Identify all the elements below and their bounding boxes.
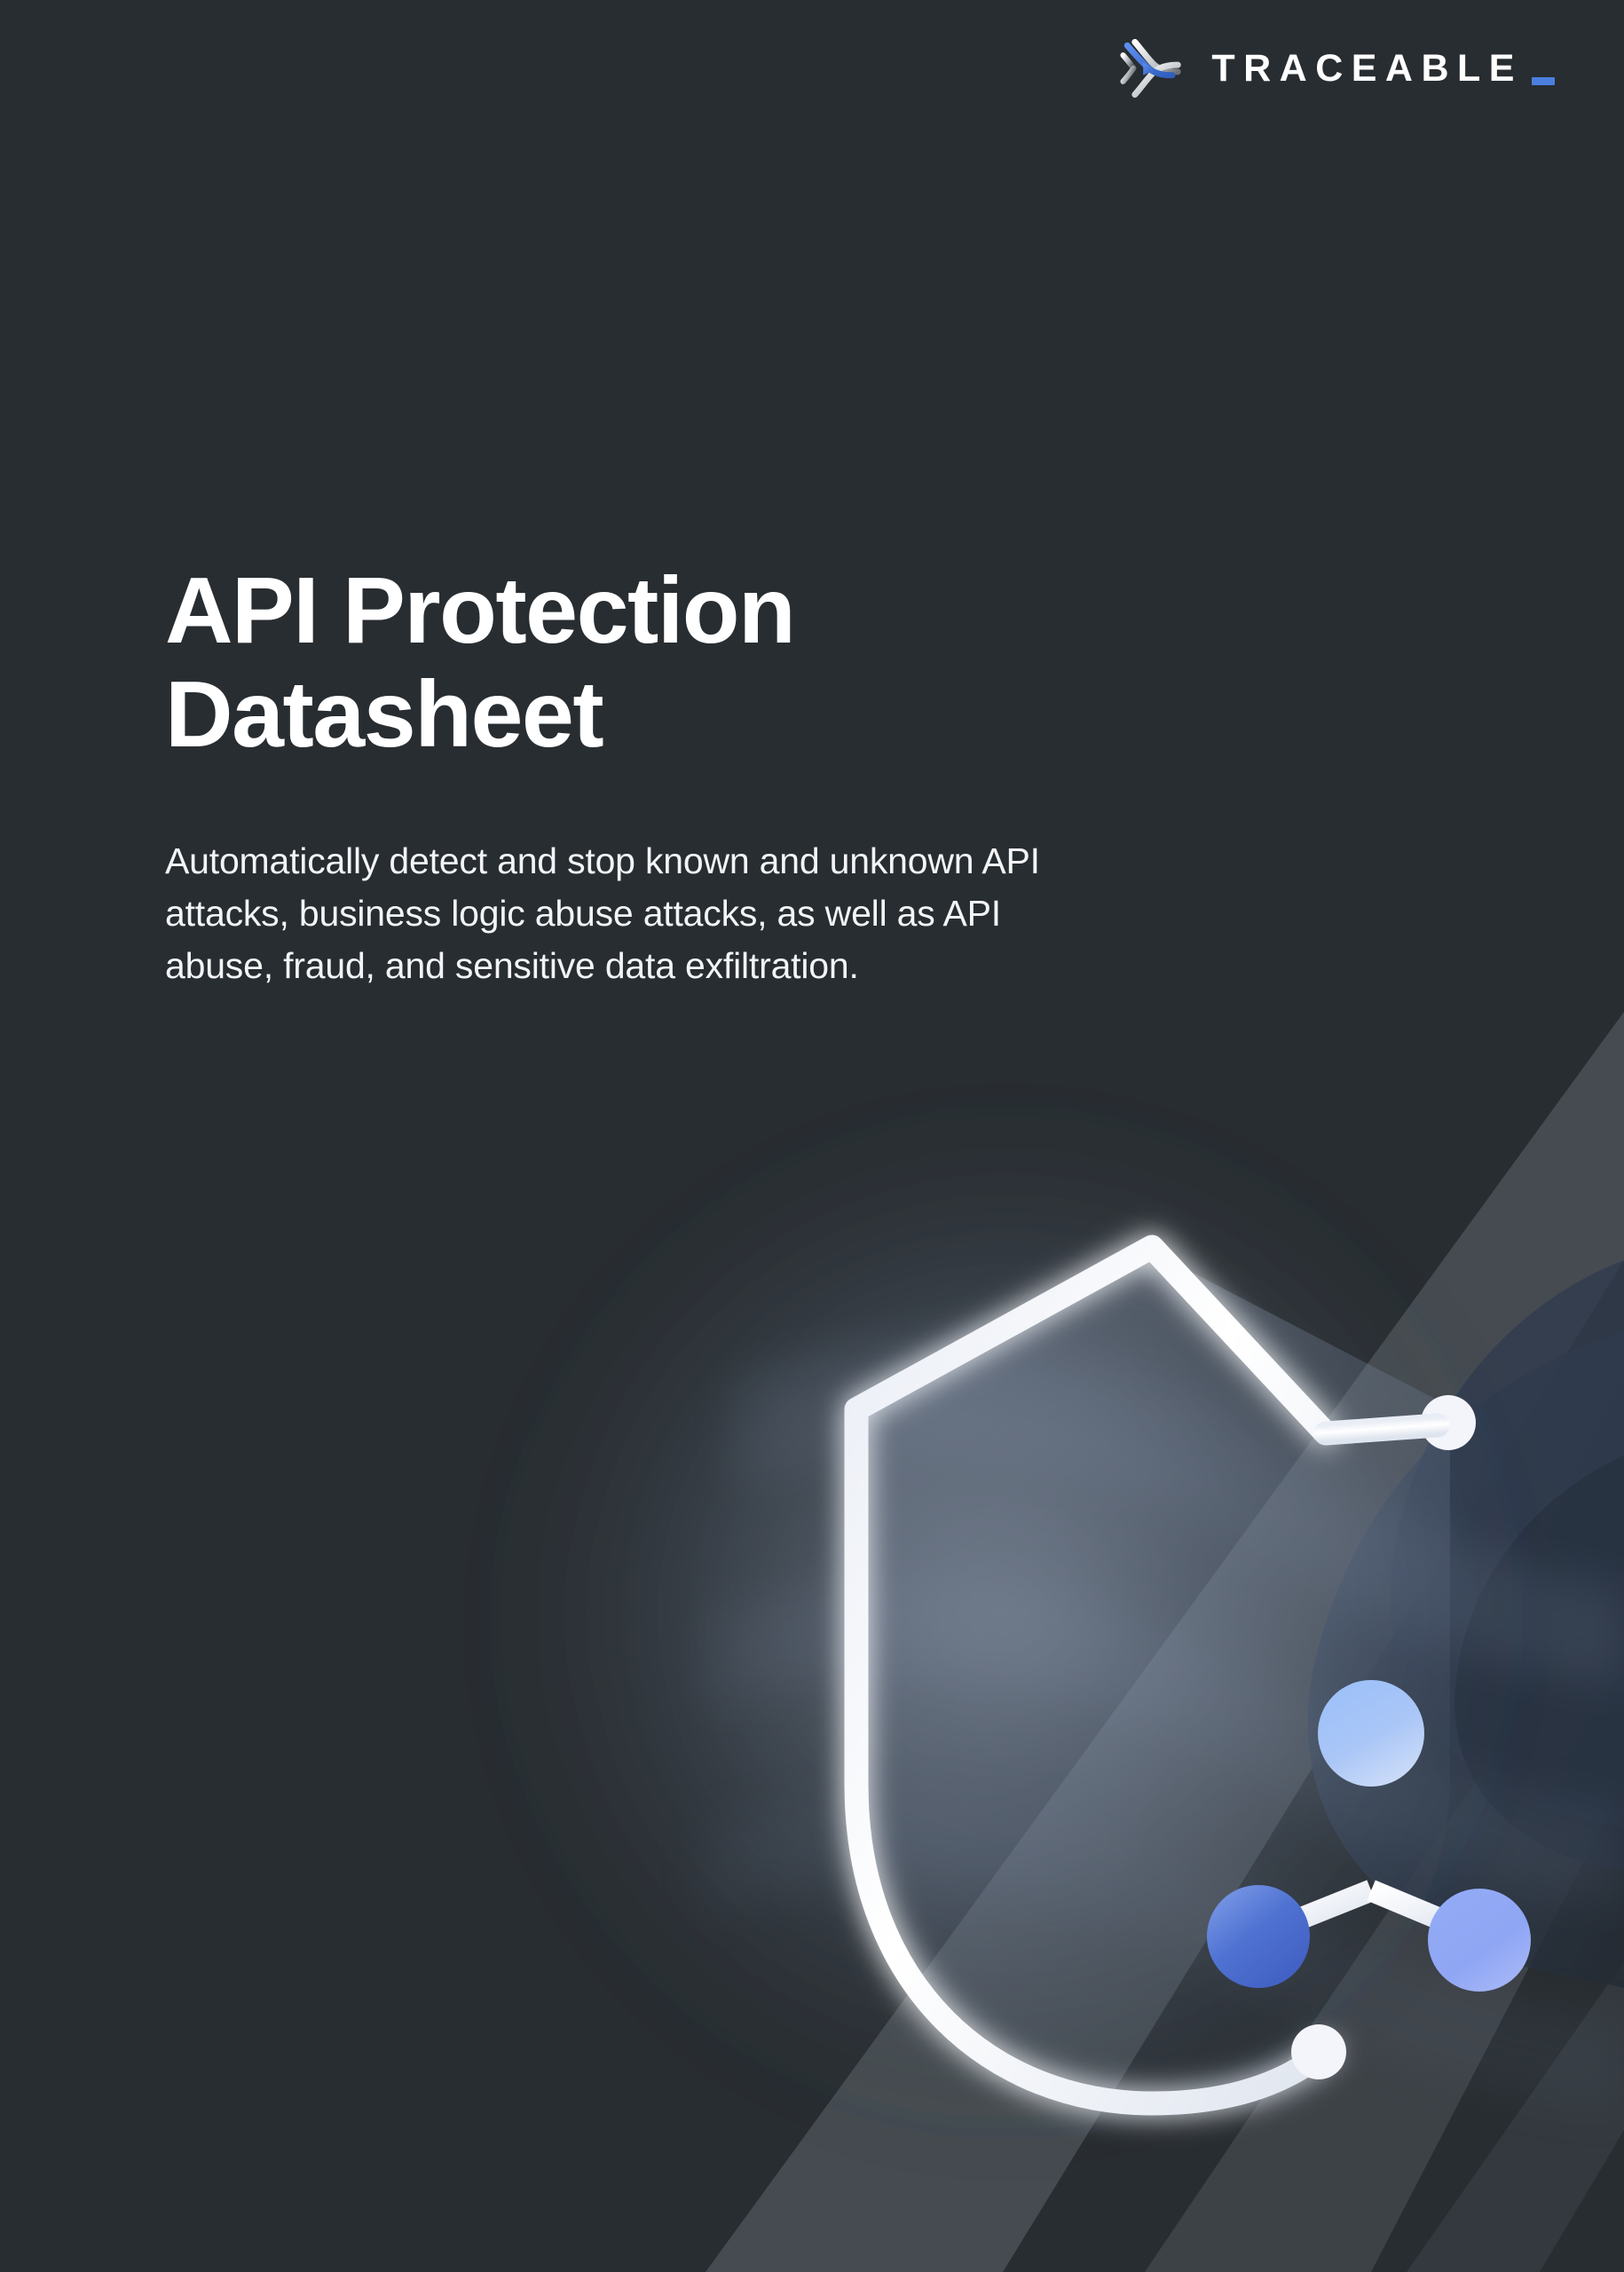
molecule-node-top	[1318, 1680, 1424, 1787]
molecule-bond-right	[1371, 1890, 1473, 1933]
brand-underscore-mark	[1532, 77, 1555, 85]
molecule-node-right	[1428, 1889, 1531, 1992]
shield-terminal-top	[1421, 1395, 1476, 1450]
brand-wordmark: TRACEABLE	[1211, 50, 1555, 88]
shield-interior	[854, 1251, 1450, 2103]
traceable-logo-mark	[1116, 34, 1185, 103]
brand-name-text: TRACEABLE	[1211, 50, 1523, 88]
brand-header: TRACEABLE	[1116, 34, 1555, 103]
background-artwork	[0, 0, 1624, 2272]
datasheet-cover-page: TRACEABLE API Protection Datasheet Autom…	[0, 0, 1624, 2272]
hero-section: API Protection Datasheet Automatically d…	[165, 559, 1052, 992]
wave-band-group	[701, 1341, 1624, 2112]
diagonal-stripe-group	[706, 1012, 1624, 2272]
page-title: API Protection Datasheet	[165, 559, 1052, 766]
navy-ribbon-group	[1308, 1260, 1624, 1988]
molecule-bond-left	[1265, 1890, 1371, 1933]
molecule-node-left	[1207, 1885, 1310, 1988]
molecule-nodes-icon	[1207, 1680, 1531, 1992]
shield-outline-icon	[856, 1247, 1326, 2103]
shield-glow	[510, 1136, 1504, 2130]
page-subtitle: Automatically detect and stop known and …	[165, 835, 1052, 992]
shield-terminal-bottom	[1291, 2024, 1346, 2079]
